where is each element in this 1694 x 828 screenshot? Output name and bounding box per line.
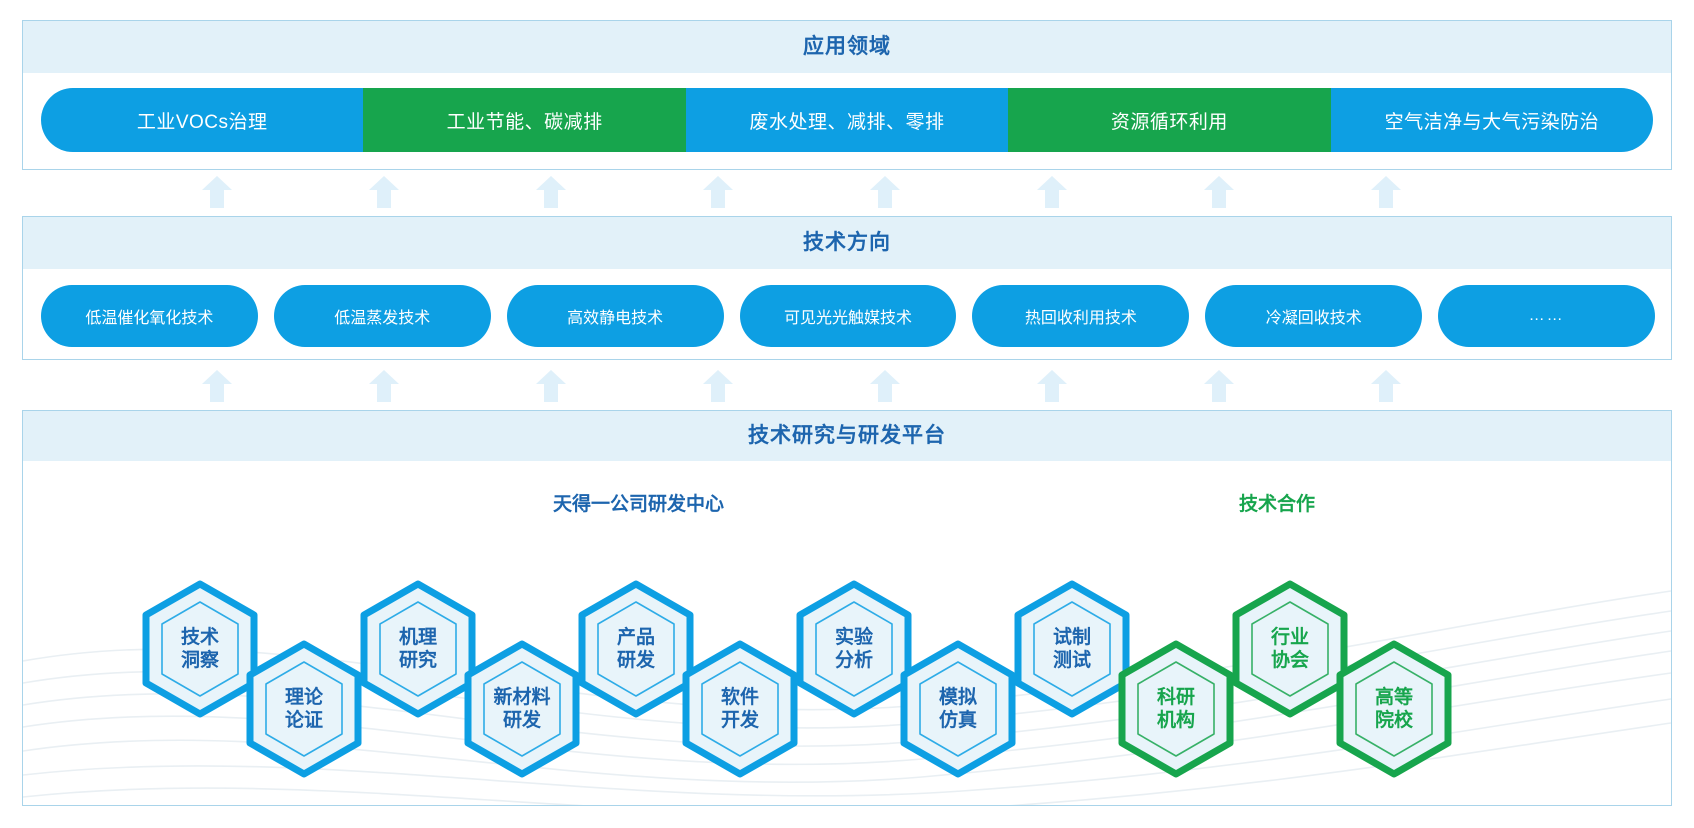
technology-direction-pill[interactable]: 低温蒸发技术 [274,285,491,347]
upward-flow-arrow [536,370,566,402]
technology-directions-title: 技术方向 [23,217,1671,269]
capability-hexagon-line-2: 仿真 [939,709,977,732]
capability-hexagon-label: 科研机构 [1117,641,1235,777]
capability-hexagon-line-1: 技术 [181,626,219,649]
upward-flow-arrow [1204,176,1234,208]
capability-hexagon-label: 高等院校 [1335,641,1453,777]
capability-hexagon-line-2: 论证 [285,709,323,732]
capability-hexagon-label: 机理研究 [359,581,477,717]
capability-hexagon-line-1: 产品 [617,626,655,649]
technology-direction-pill[interactable]: 可见光光触媒技术 [740,285,957,347]
capability-hexagon-line-1: 科研 [1157,686,1195,709]
capability-hexagon-label: 实验分析 [795,581,913,717]
capability-hexagon-label: 软件开发 [681,641,799,777]
group-title-technical-cooperation: 技术合作 [1239,489,1315,516]
application-domains-bar: 工业VOCs治理工业节能、碳减排废水处理、减排、零排资源循环利用空气洁净与大气污… [41,88,1653,152]
capability-hexagon-label: 试制测试 [1013,581,1131,717]
research-platform-title: 技术研究与研发平台 [23,411,1671,461]
technology-directions-panel: 技术方向 低温催化氧化技术低温蒸发技术高效静电技术可见光光触媒技术热回收利用技术… [22,216,1672,360]
upward-flow-arrow [1371,370,1401,402]
application-domains-title: 应用领域 [23,21,1671,73]
application-domain-segment[interactable]: 工业节能、碳减排 [363,88,685,152]
upward-flow-arrow [202,370,232,402]
capability-hexagon[interactable]: 理论论证 [245,641,363,777]
technology-direction-pill[interactable]: 热回收利用技术 [972,285,1189,347]
capability-hexagon[interactable]: 高等院校 [1335,641,1453,777]
capability-hexagon-line-1: 新材料 [493,686,550,709]
application-domain-segment[interactable]: 资源循环利用 [1008,88,1330,152]
upward-flow-arrow [1037,370,1067,402]
capability-hexagon-line-2: 研发 [503,709,541,732]
upward-flow-arrow [536,176,566,208]
research-platform-panel: 技术研究与研发平台 天得一公司研发中心 技术合作 技术洞察理论论证机理研究新材料… [22,410,1672,806]
capability-hexagon[interactable]: 实验分析 [795,581,913,717]
capability-hexagon-line-2: 测试 [1053,649,1091,672]
capability-hexagon-line-1: 理论 [285,686,323,709]
upward-flow-arrow [870,176,900,208]
capability-hexagon-label: 新材料研发 [463,641,581,777]
technology-direction-pill[interactable]: …… [1438,285,1655,347]
capability-hexagon-line-1: 模拟 [939,686,977,709]
capability-hexagon-label: 技术洞察 [141,581,259,717]
capability-hexagon-line-2: 研发 [617,649,655,672]
capability-hexagon-label: 产品研发 [577,581,695,717]
upward-flow-arrow [1037,176,1067,208]
upward-flow-arrow [703,176,733,208]
technology-directions-list: 低温催化氧化技术低温蒸发技术高效静电技术可见光光触媒技术热回收利用技术冷凝回收技… [41,285,1655,347]
capability-hexagon[interactable]: 机理研究 [359,581,477,717]
technology-direction-pill[interactable]: 高效静电技术 [507,285,724,347]
upward-flow-arrow [870,370,900,402]
upward-flow-arrow [369,176,399,208]
technology-direction-pill[interactable]: 冷凝回收技术 [1205,285,1422,347]
arrow-row-platform-to-tech [22,368,1672,408]
capability-hexagon[interactable]: 新材料研发 [463,641,581,777]
upward-flow-arrow [369,370,399,402]
capability-hexagon-label: 理论论证 [245,641,363,777]
capability-hexagon-line-2: 开发 [721,709,759,732]
diagram-canvas: 应用领域 工业VOCs治理工业节能、碳减排废水处理、减排、零排资源循环利用空气洁… [0,0,1694,828]
upward-flow-arrow [1204,370,1234,402]
capability-hexagon[interactable]: 科研机构 [1117,641,1235,777]
application-domains-panel: 应用领域 工业VOCs治理工业节能、碳减排废水处理、减排、零排资源循环利用空气洁… [22,20,1672,170]
capability-hexagon-line-2: 机构 [1157,709,1195,732]
upward-flow-arrow [1371,176,1401,208]
capability-hexagon-line-2: 协会 [1271,649,1309,672]
research-platform-body: 天得一公司研发中心 技术合作 技术洞察理论论证机理研究新材料研发产品研发软件开发… [23,461,1671,805]
capability-hexagon-label: 行业协会 [1231,581,1349,717]
application-domain-segment[interactable]: 废水处理、减排、零排 [686,88,1008,152]
capability-hexagon-line-2: 研究 [399,649,437,672]
group-title-rd-center: 天得一公司研发中心 [553,489,724,516]
capability-hexagon-line-2: 洞察 [181,649,219,672]
capability-hexagon-line-1: 高等 [1375,686,1413,709]
upward-flow-arrow [703,370,733,402]
capability-hexagon-line-2: 分析 [835,649,873,672]
capability-hexagon[interactable]: 试制测试 [1013,581,1131,717]
arrow-row-tech-to-apps [22,174,1672,214]
technology-direction-pill[interactable]: 低温催化氧化技术 [41,285,258,347]
capability-hexagon-line-1: 实验 [835,626,873,649]
capability-hexagon-line-1: 行业 [1271,626,1309,649]
capability-hexagon[interactable]: 产品研发 [577,581,695,717]
upward-flow-arrow [202,176,232,208]
capability-hexagon-line-1: 软件 [721,686,759,709]
capability-hexagon-line-1: 机理 [399,626,437,649]
capability-hexagon-line-1: 试制 [1053,626,1091,649]
capability-hexagon[interactable]: 行业协会 [1231,581,1349,717]
capability-hexagon[interactable]: 软件开发 [681,641,799,777]
capability-hexagon-line-2: 院校 [1375,709,1413,732]
capability-hexagon-label: 模拟仿真 [899,641,1017,777]
capability-hexagon[interactable]: 技术洞察 [141,581,259,717]
capability-hexagon[interactable]: 模拟仿真 [899,641,1017,777]
application-domain-segment[interactable]: 空气洁净与大气污染防治 [1331,88,1653,152]
application-domain-segment[interactable]: 工业VOCs治理 [41,88,363,152]
